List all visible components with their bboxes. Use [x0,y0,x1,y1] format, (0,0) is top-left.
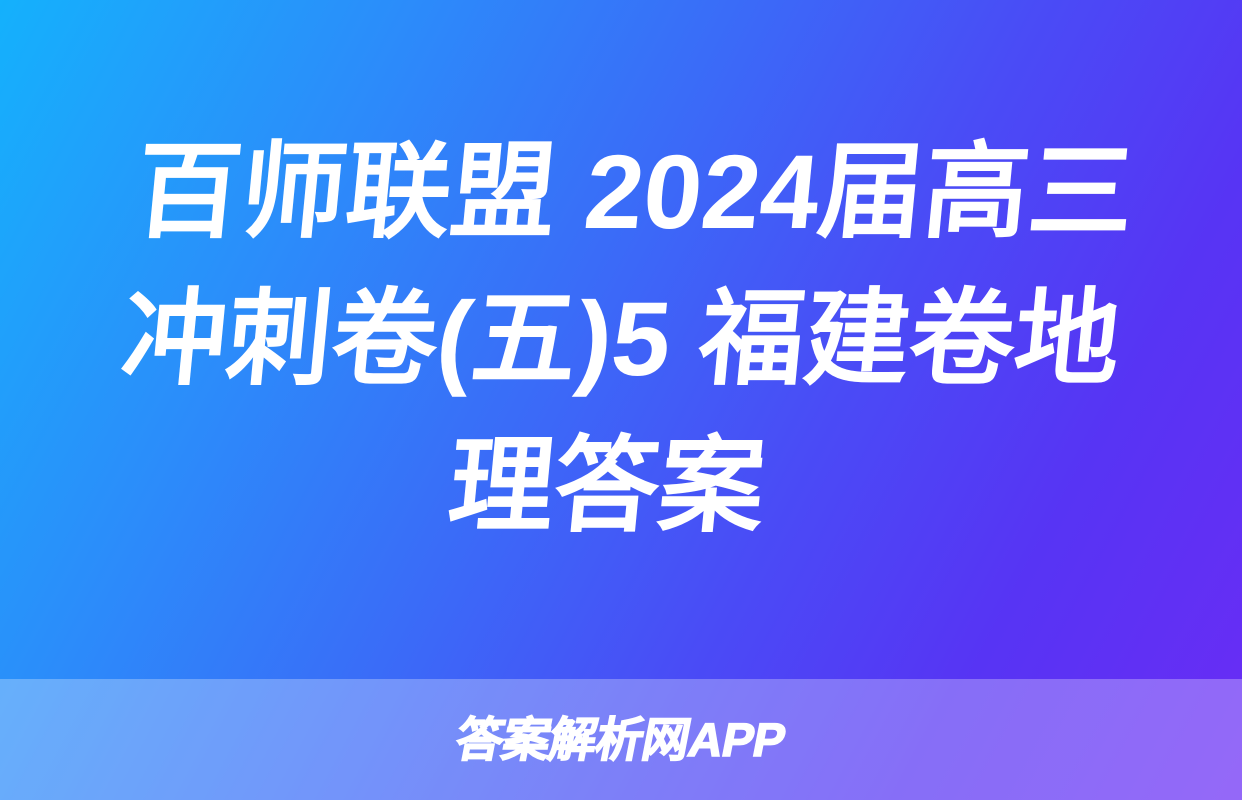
app-watermark-label: 答案解析网APP [453,716,790,763]
title-card: 百师联盟 2024届高三冲刺卷(五)5 福建卷地理答案 答案解析网APP [0,0,1242,800]
footer-watermark-band: 答案解析网APP [0,679,1242,800]
page-title: 百师联盟 2024届高三冲刺卷(五)5 福建卷地理答案 [50,119,1192,560]
headline-container: 百师联盟 2024届高三冲刺卷(五)5 福建卷地理答案 [0,0,1242,679]
